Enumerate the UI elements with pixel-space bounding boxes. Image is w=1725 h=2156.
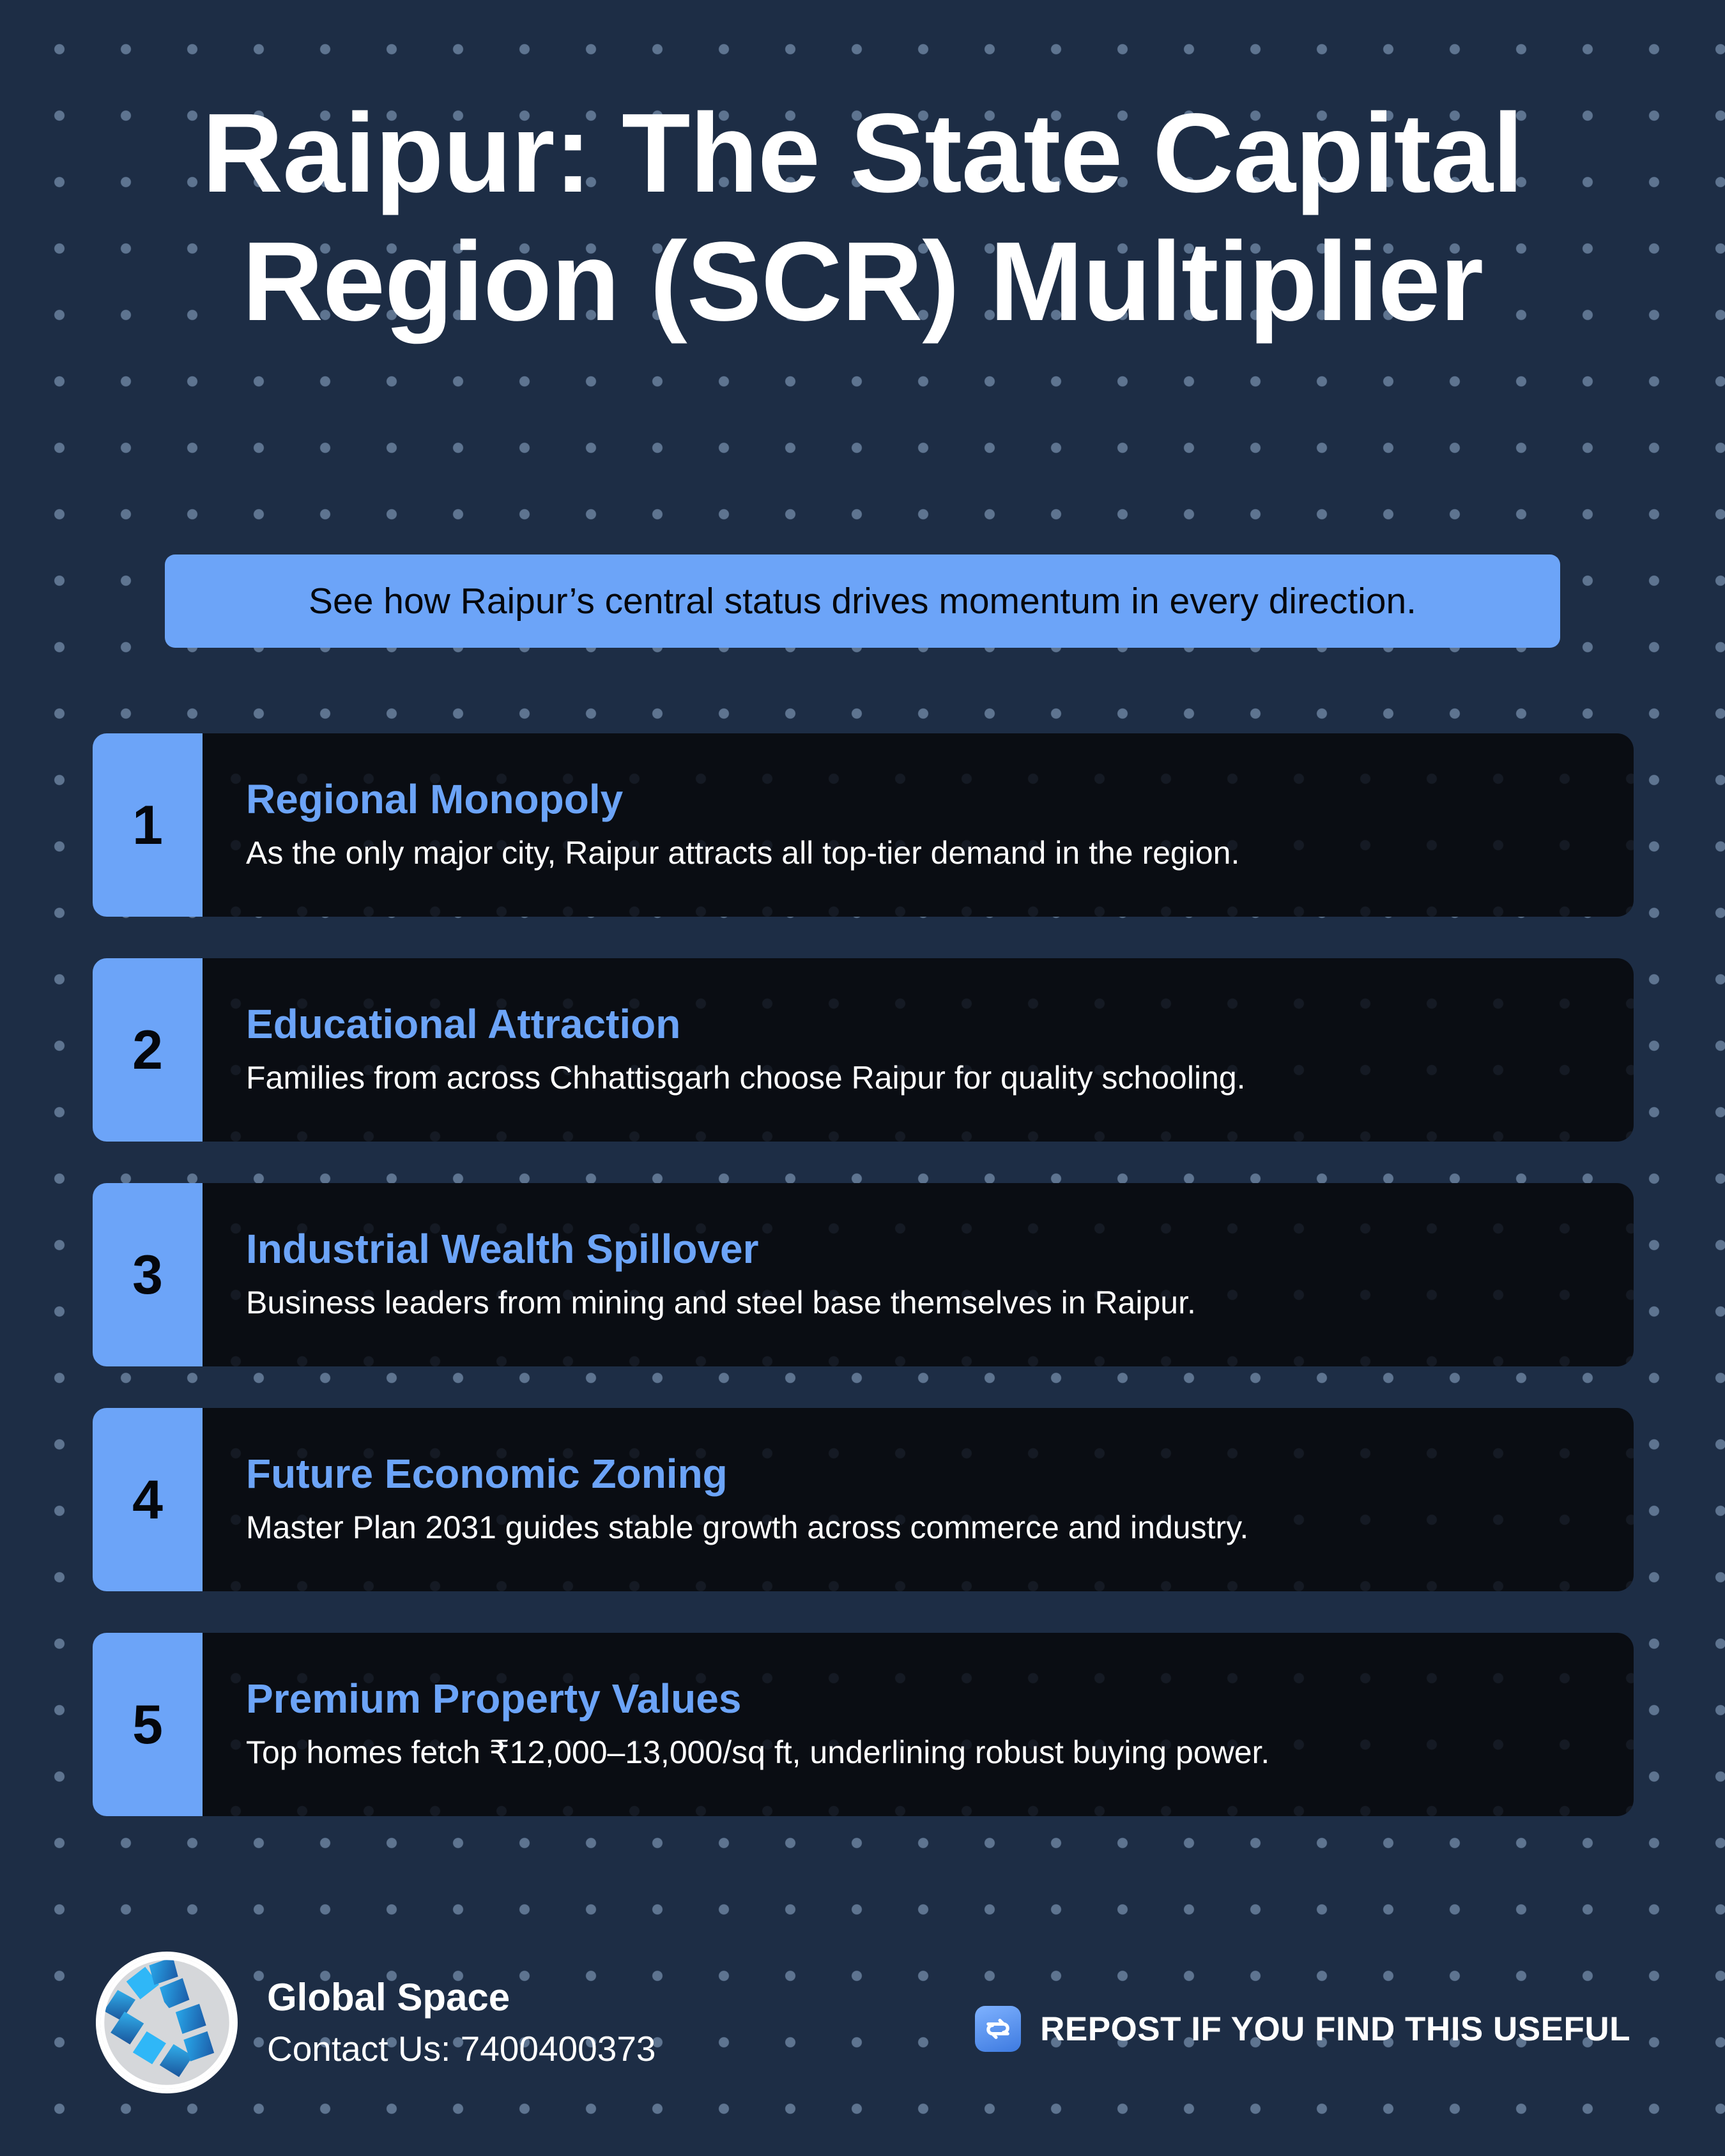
footer: Global Space Contact Us: 7400400373 REPO…	[0, 1945, 1725, 2156]
list-item: 2 Educational Attraction Families from a…	[93, 958, 1634, 1142]
item-description: As the only major city, Raipur attracts …	[246, 835, 1634, 872]
poster-content: Raipur: The State Capital Region (SCR) M…	[0, 0, 1725, 2156]
list-item: 1 Regional Monopoly As the only major ci…	[93, 733, 1634, 917]
benefits-list: 1 Regional Monopoly As the only major ci…	[93, 733, 1634, 1858]
item-card: Premium Property Values Top homes fetch …	[203, 1633, 1634, 1816]
item-card: Future Economic Zoning Master Plan 2031 …	[203, 1408, 1634, 1591]
item-number-badge: 5	[93, 1633, 203, 1816]
item-title: Educational Attraction	[246, 1003, 1634, 1046]
item-card: Regional Monopoly As the only major city…	[203, 733, 1634, 917]
repost-label: REPOST IF YOU FIND THIS USEFUL	[1040, 2010, 1630, 2049]
item-card-inner: Regional Monopoly As the only major city…	[246, 778, 1634, 872]
item-number-badge: 4	[93, 1408, 203, 1591]
item-card-inner: Future Economic Zoning Master Plan 2031 …	[246, 1453, 1634, 1547]
item-card: Industrial Wealth Spillover Business lea…	[203, 1183, 1634, 1366]
brand-name: Global Space	[267, 1975, 656, 2021]
list-item: 4 Future Economic Zoning Master Plan 203…	[93, 1408, 1634, 1591]
page-title: Raipur: The State Capital Region (SCR) M…	[96, 89, 1629, 346]
list-item: 5 Premium Property Values Top homes fetc…	[93, 1633, 1634, 1816]
repost-callout[interactable]: REPOST IF YOU FIND THIS USEFUL	[975, 2006, 1630, 2052]
item-description: Families from across Chhattisgarh choose…	[246, 1060, 1634, 1097]
item-card-inner: Premium Property Values Top homes fetch …	[246, 1678, 1634, 1771]
repost-icon	[975, 2006, 1021, 2052]
item-card-inner: Industrial Wealth Spillover Business lea…	[246, 1228, 1634, 1322]
item-card-inner: Educational Attraction Families from acr…	[246, 1003, 1634, 1097]
list-item: 3 Industrial Wealth Spillover Business l…	[93, 1183, 1634, 1366]
subtitle-text: See how Raipur’s central status drives m…	[309, 581, 1416, 622]
brand-text: Global Space Contact Us: 7400400373	[267, 1975, 656, 2070]
item-description: Top homes fetch ₹12,000–13,000/sq ft, un…	[246, 1734, 1634, 1771]
item-title: Regional Monopoly	[246, 778, 1634, 821]
item-title: Premium Property Values	[246, 1678, 1634, 1720]
item-card: Educational Attraction Families from acr…	[203, 958, 1634, 1142]
brand-contact: Contact Us: 7400400373	[267, 2028, 656, 2070]
item-description: Business leaders from mining and steel b…	[246, 1285, 1634, 1322]
item-description: Master Plan 2031 guides stable growth ac…	[246, 1510, 1634, 1547]
item-number-badge: 1	[93, 733, 203, 917]
item-title: Industrial Wealth Spillover	[246, 1228, 1634, 1271]
item-number-badge: 3	[93, 1183, 203, 1366]
globe-lattice-logo-icon	[96, 1952, 238, 2093]
item-number-badge: 2	[93, 958, 203, 1142]
subtitle-banner: See how Raipur’s central status drives m…	[165, 554, 1560, 648]
brand-block: Global Space Contact Us: 7400400373	[96, 1952, 656, 2093]
item-title: Future Economic Zoning	[246, 1453, 1634, 1495]
infographic-poster: Raipur: The State Capital Region (SCR) M…	[0, 0, 1725, 2156]
